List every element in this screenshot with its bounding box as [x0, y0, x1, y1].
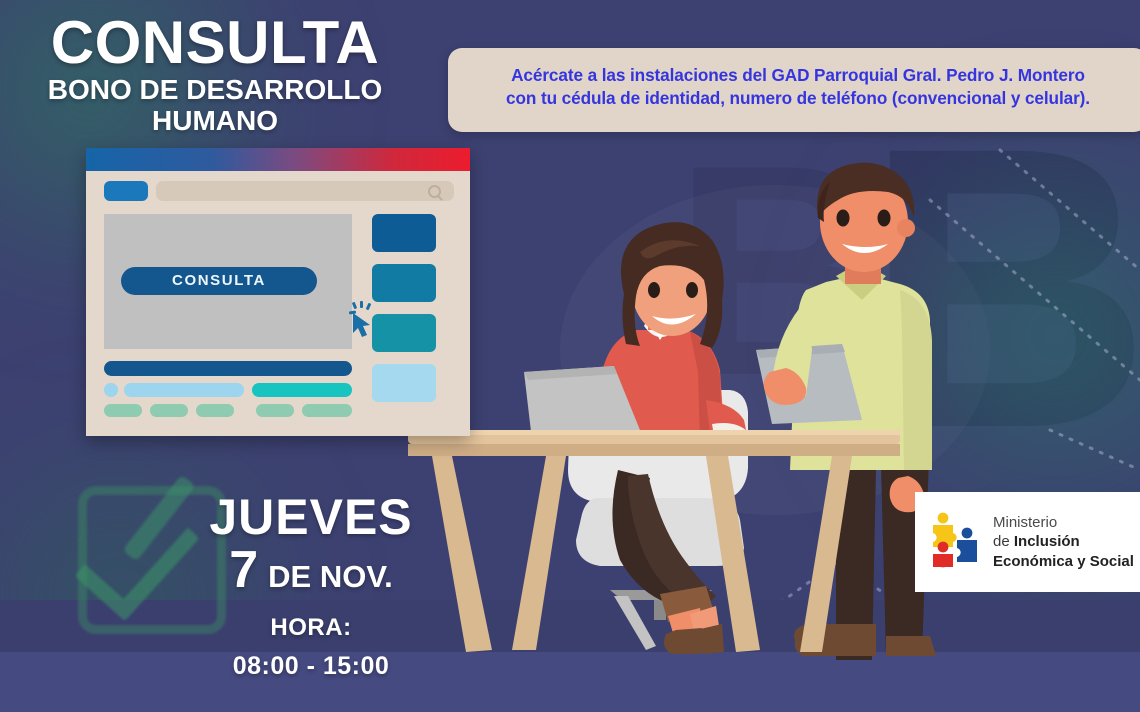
hour-label: HORA: [186, 614, 436, 642]
headline-subtitle-line1: BONO DE DESARROLLO [0, 74, 430, 105]
browser-sidebar [364, 214, 452, 424]
search-icon [428, 185, 441, 198]
browser-toolbar [104, 181, 454, 201]
consulta-button-label: CONSULTA [121, 267, 317, 295]
date-month: DE NOV. [268, 561, 393, 592]
content-dot [104, 383, 118, 397]
content-bar-teal [252, 383, 352, 397]
content-pill [196, 404, 234, 417]
content-bar-lightblue [124, 383, 244, 397]
logo-line2-bold: Inclusión [1014, 533, 1080, 550]
headline-subtitle-line2: HUMANO [0, 105, 430, 136]
sidebar-block-4[interactable] [372, 364, 436, 402]
browser-content-area: CONSULTA [104, 214, 352, 349]
sidebar-block-1[interactable] [372, 214, 436, 252]
consulta-button[interactable]: CONSULTA [121, 267, 317, 295]
content-row-pills [104, 404, 352, 417]
hours-value: 08:00 - 15:00 [186, 652, 436, 681]
logo-line-ministerio: Ministerio [993, 513, 1134, 532]
content-bar-primary [104, 361, 352, 376]
browser-bottom-content [104, 361, 352, 417]
info-panel: Acércate a las instalaciones del GAD Par… [448, 48, 1140, 132]
date-block: JUEVES 7 DE NOV. HORA: 08:00 - 15:00 [186, 492, 436, 681]
content-pill [302, 404, 352, 417]
ministry-logo-text: Ministerio de Inclusión Económica y Soci… [993, 513, 1134, 571]
sidebar-block-3[interactable] [372, 314, 436, 352]
date-day-number: 7 [229, 544, 258, 596]
ministry-logo: Ministerio de Inclusión Económica y Soci… [915, 492, 1140, 592]
browser-menu-button[interactable] [104, 181, 148, 201]
info-panel-line2: con tu cédula de identidad, numero de te… [462, 87, 1134, 110]
content-pill [150, 404, 188, 417]
content-pill [256, 404, 294, 417]
browser-window-illustration: CONSULTA [86, 148, 470, 436]
content-row-secondary [104, 383, 352, 397]
headline-block: CONSULTA BONO DE DESARROLLO HUMANO [0, 14, 430, 136]
browser-body: CONSULTA [86, 171, 470, 436]
info-panel-line1: Acércate a las instalaciones del GAD Par… [462, 64, 1134, 87]
date-weekday: JUEVES [186, 492, 436, 542]
page-title: CONSULTA [0, 14, 430, 72]
sidebar-block-2[interactable] [372, 264, 436, 302]
content-pill [104, 404, 142, 417]
logo-line-economica: Económica y Social [993, 552, 1134, 571]
browser-titlebar [86, 148, 470, 171]
logo-line2-prefix: de [993, 533, 1014, 550]
search-input[interactable] [156, 181, 454, 201]
puzzle-people-icon [929, 511, 981, 573]
background-halo [560, 185, 990, 515]
promotional-poster: B B [0, 0, 1140, 712]
